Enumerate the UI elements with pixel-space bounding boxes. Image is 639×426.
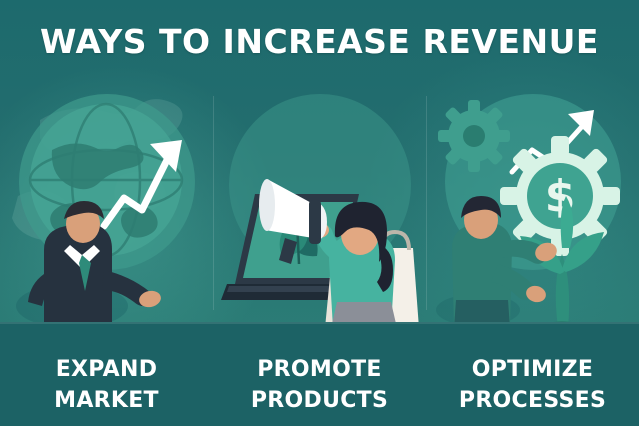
caption-line-1: EXPAND [56, 357, 158, 382]
caption-line-2: MARKET [0, 385, 213, 416]
caption-optimize-processes: OPTIMIZE PROCESSES [426, 354, 639, 416]
caption-promote-products: PROMOTE PRODUCTS [213, 354, 426, 416]
gear-icon [438, 100, 510, 172]
column-promote-products [213, 88, 426, 328]
poster: WAYS TO INCREASE REVENUE [0, 0, 639, 426]
caption-line-1: PROMOTE [257, 357, 382, 382]
illustration-promote-products [213, 88, 426, 328]
caption-expand-market: EXPAND MARKET [0, 354, 213, 416]
column-expand-market [0, 88, 213, 328]
illustration-optimize-processes: $ [426, 88, 639, 328]
caption-line-2: PRODUCTS [213, 385, 426, 416]
page-title: WAYS TO INCREASE REVENUE [0, 22, 639, 61]
caption-line-1: OPTIMIZE [472, 357, 593, 382]
column-optimize-processes: $ [426, 88, 639, 328]
caption-line-2: PROCESSES [426, 385, 639, 416]
illustration-expand-market [0, 88, 213, 328]
